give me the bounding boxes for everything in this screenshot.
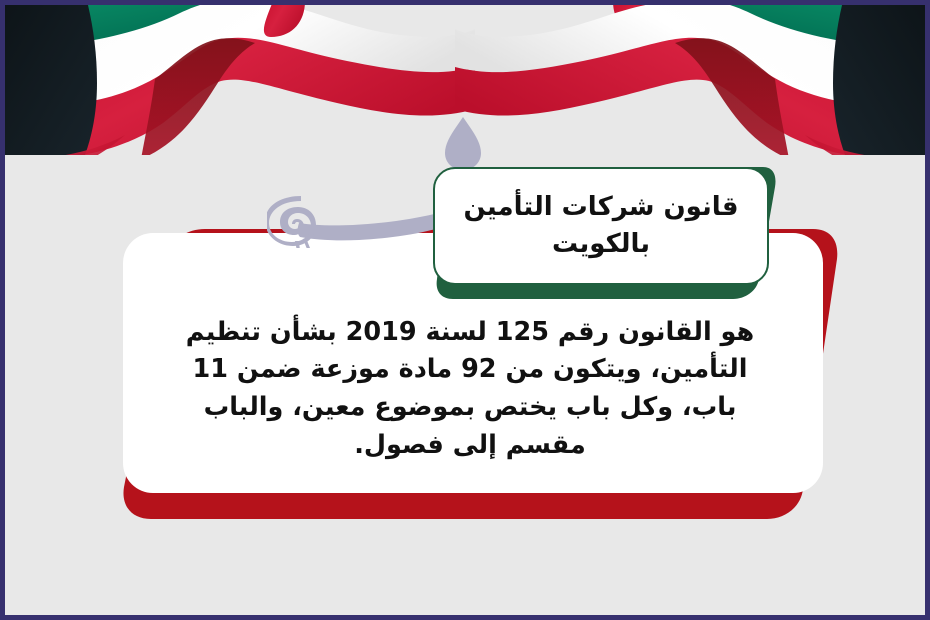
- ribbon-right: [455, 5, 925, 155]
- title-text: قانون شركات التأمين بالكويت: [435, 189, 767, 263]
- title-card: قانون شركات التأمين بالكويت: [433, 167, 769, 285]
- ribbon-center-dips: [264, 5, 657, 37]
- kuwait-flag-ribbon: [5, 5, 925, 155]
- ribbon-left: [5, 5, 475, 155]
- body-text: هو القانون رقم 125 لسنة 2019 بشأن تنظيم …: [123, 314, 823, 465]
- poster-canvas: هو القانون رقم 125 لسنة 2019 بشأن تنظيم …: [0, 0, 930, 620]
